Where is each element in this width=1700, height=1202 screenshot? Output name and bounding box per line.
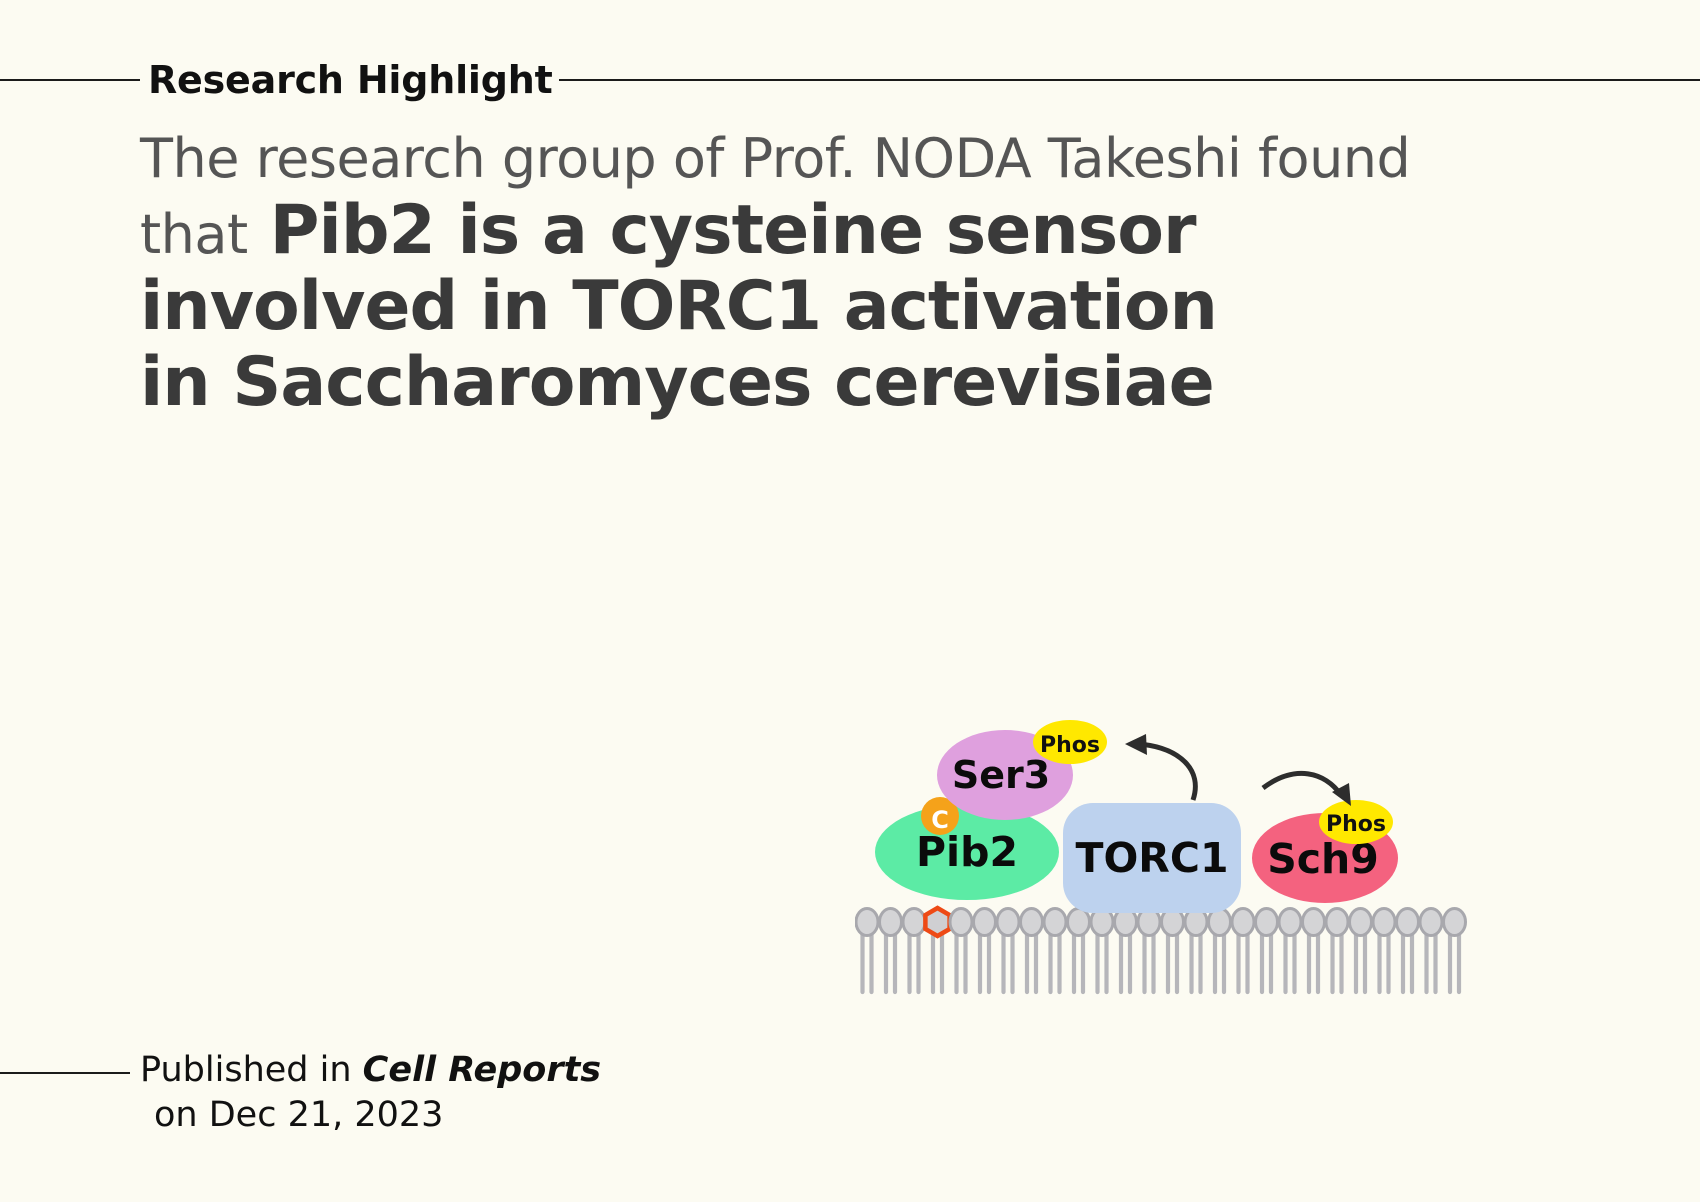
research-figure: Pib2 C Ser3 Phos TORC1 Sch9 Phos	[855, 700, 1515, 1030]
arrow-to-ser3	[1125, 734, 1195, 800]
lipid-head	[856, 909, 878, 936]
lipid-head	[1279, 909, 1301, 936]
membrane-tails	[863, 930, 1460, 992]
lipid-head	[1326, 909, 1348, 936]
cysteine-badge-label: C	[931, 806, 949, 834]
lipid-head	[950, 909, 972, 936]
phos-badge-ser3-label: Phos	[1040, 733, 1100, 758]
arrow-to-sch9	[1263, 773, 1351, 806]
headline-first-title-row: that Pib2 is a cysteine sensor	[140, 193, 1560, 269]
journal-name: Cell Reports	[363, 1050, 601, 1090]
lipid-head	[1420, 909, 1442, 936]
lipid-head	[903, 909, 925, 936]
lipid-head	[1021, 909, 1043, 936]
lipid-head	[1068, 909, 1090, 936]
headline-lede: The research group of Prof. NODA Takeshi…	[140, 128, 1560, 189]
header-band: Research Highlight	[0, 48, 1700, 112]
headline-block: The research group of Prof. NODA Takeshi…	[140, 128, 1560, 421]
lipid-head	[1397, 909, 1419, 936]
lipid-head	[997, 909, 1019, 936]
lipid-head	[1350, 909, 1372, 936]
headline-title-line-1: Pib2 is a cysteine sensor	[270, 193, 1196, 269]
header-rule-left	[0, 79, 140, 81]
footer-text-group: Published in Cell Reports on Dec 21, 202…	[130, 1048, 601, 1138]
publication-date: on Dec 21, 2023	[140, 1093, 601, 1138]
lipid-head	[880, 909, 902, 936]
header-rule-right	[559, 79, 1700, 81]
header-label: Research Highlight	[140, 61, 559, 99]
lipid-head	[974, 909, 996, 936]
lipid-head-pi3p-hexagon	[925, 908, 949, 936]
lipid-head	[1044, 909, 1066, 936]
publication-footer: Published in Cell Reports on Dec 21, 202…	[0, 1048, 700, 1138]
footer-rule	[0, 1072, 130, 1074]
publication-line: Published in Cell Reports	[140, 1048, 601, 1093]
lipid-head	[1444, 909, 1466, 936]
phos-badge-sch9-label: Phos	[1326, 812, 1386, 837]
lipid-head	[1232, 909, 1254, 936]
headline-connector: that	[140, 203, 248, 266]
protein-pib2-label: Pib2	[916, 828, 1018, 876]
lipid-head	[1256, 909, 1278, 936]
lipid-head	[1303, 909, 1325, 936]
protein-torc1-label: TORC1	[1075, 834, 1228, 882]
headline-title-line-3: in Saccharomyces cerevisiae	[140, 345, 1560, 421]
lipid-head	[1373, 909, 1395, 936]
protein-ser3-label: Ser3	[952, 753, 1050, 797]
published-prefix: Published in	[140, 1050, 363, 1090]
headline-title-line-2: involved in TORC1 activation	[140, 269, 1560, 345]
